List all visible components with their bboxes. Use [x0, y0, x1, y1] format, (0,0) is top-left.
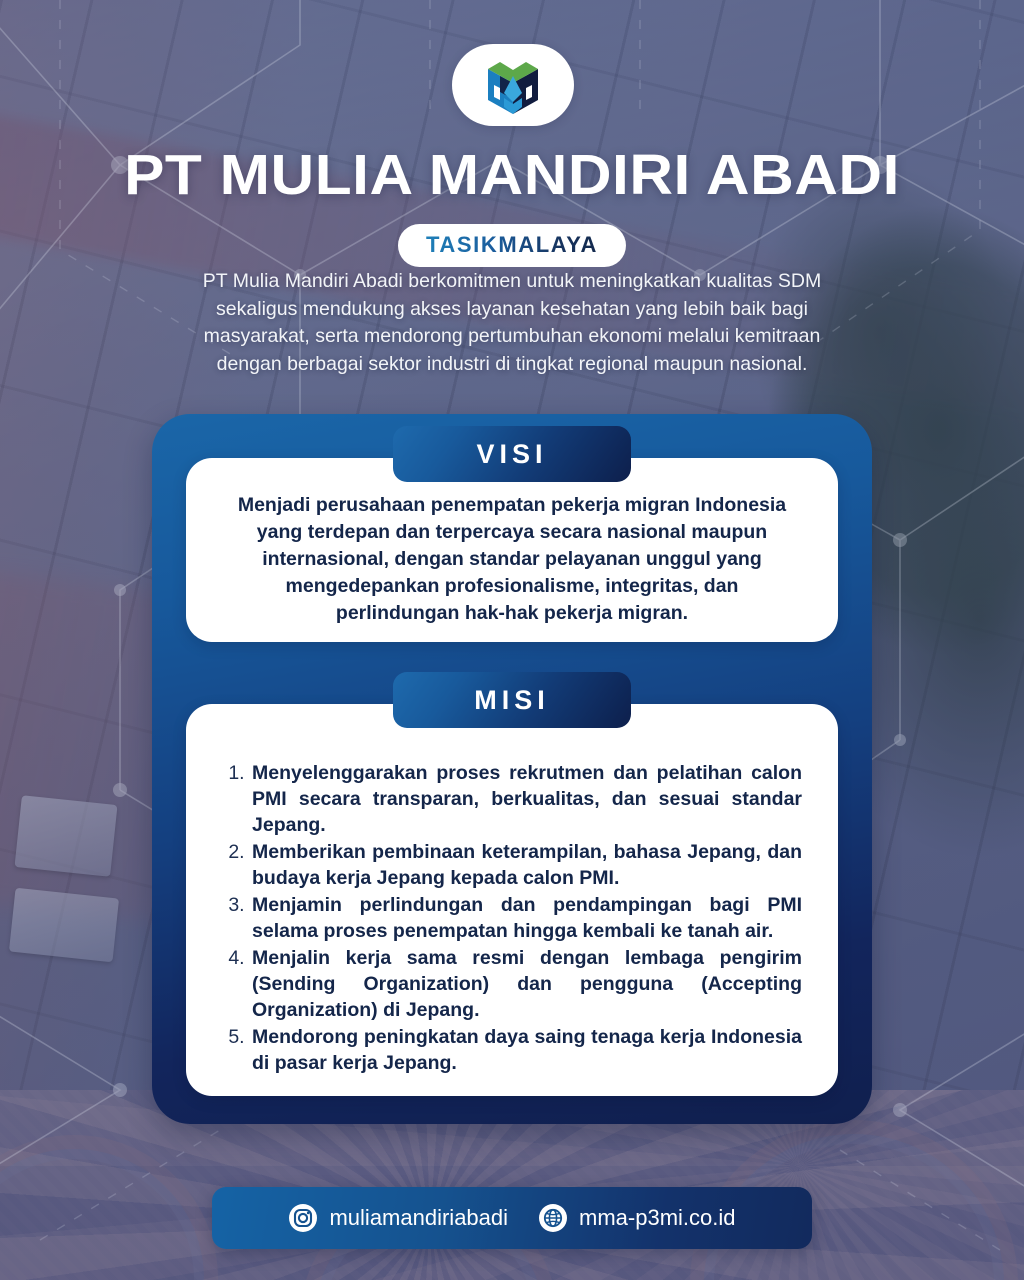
- hexagon-cube-droplet-logo-icon: [482, 52, 544, 118]
- poster-canvas: PT MULIA MANDIRI ABADI TASIKMALAYA PT Mu…: [0, 0, 1024, 1280]
- location-badge: TASIKMALAYA: [398, 224, 626, 267]
- website-contact[interactable]: mma-p3mi.co.id: [538, 1203, 735, 1233]
- visi-text: Menjadi perusahaan penempatan pekerja mi…: [186, 458, 838, 627]
- globe-icon[interactable]: [538, 1203, 568, 1233]
- company-logo-badge: [452, 44, 574, 126]
- location-badge-label: TASIKMALAYA: [426, 232, 598, 257]
- list-item: Memberikan pembinaan keterampilan, bahas…: [250, 839, 802, 891]
- instagram-contact[interactable]: muliamandiriabadi: [288, 1203, 508, 1233]
- visi-tab-header: VISI: [393, 426, 631, 482]
- misi-list: Menyelenggarakan proses rekrutmen dan pe…: [186, 704, 838, 1076]
- list-item: Menyelenggarakan proses rekrutmen dan pe…: [250, 760, 802, 838]
- instagram-handle: muliamandiriabadi: [329, 1205, 508, 1231]
- intro-paragraph: PT Mulia Mandiri Abadi berkomitmen untuk…: [192, 268, 832, 378]
- contact-footer-bar: muliamandiriabadi mma-p3mi.co.id: [212, 1187, 812, 1249]
- visi-card: Menjadi perusahaan penempatan pekerja mi…: [186, 458, 838, 642]
- misi-card: Menyelenggarakan proses rekrutmen dan pe…: [186, 704, 838, 1096]
- list-item: Menjamin perlindungan dan pendampingan b…: [250, 892, 802, 944]
- page-title: PT MULIA MANDIRI ABADI: [0, 142, 1024, 208]
- list-item: Mendorong peningkatan daya saing tenaga …: [250, 1024, 802, 1076]
- list-item: Menjalin kerja sama resmi dengan lembaga…: [250, 945, 802, 1023]
- instagram-icon[interactable]: [288, 1203, 318, 1233]
- website-url: mma-p3mi.co.id: [579, 1205, 735, 1231]
- misi-tab-header: MISI: [393, 672, 631, 728]
